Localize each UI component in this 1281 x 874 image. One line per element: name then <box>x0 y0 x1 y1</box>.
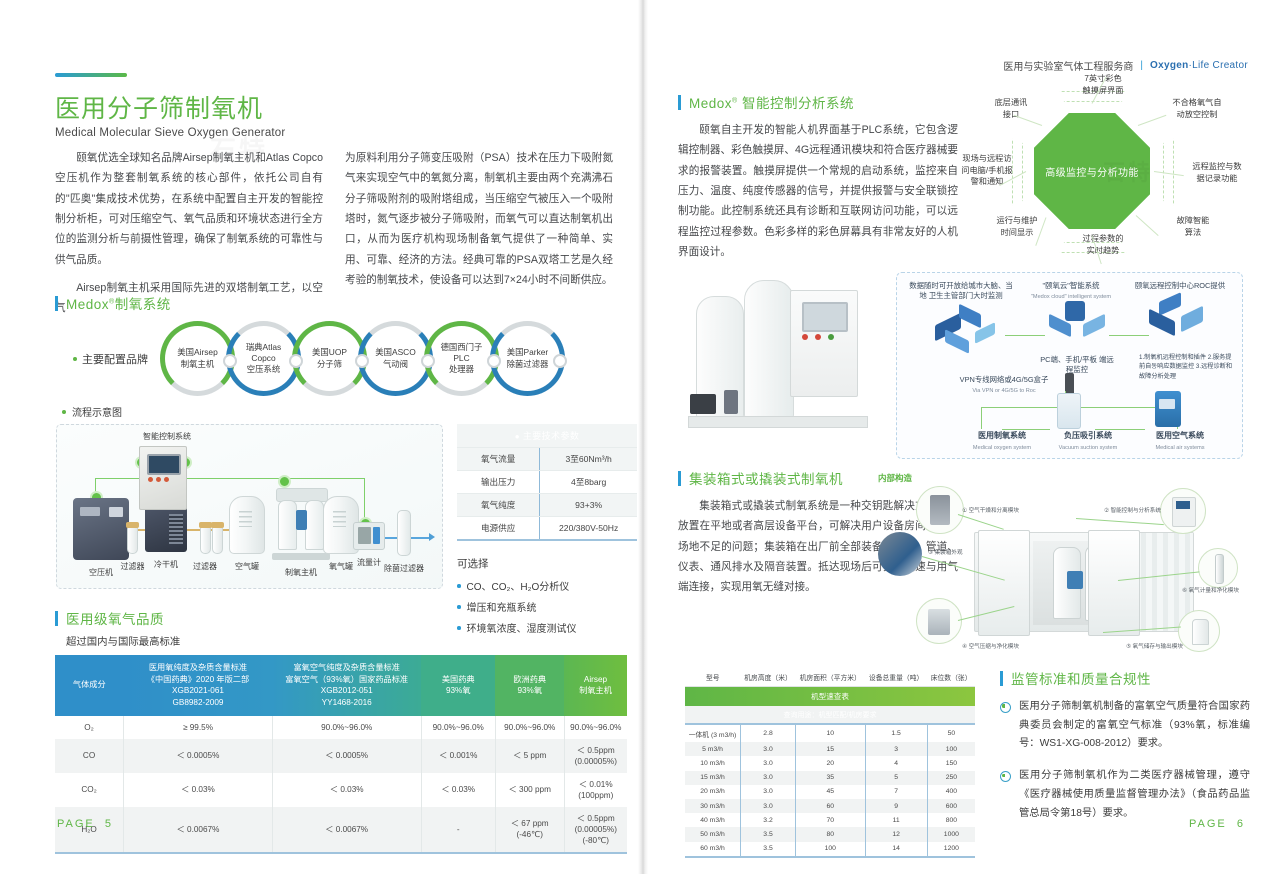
equipment-filter-2b <box>212 526 223 554</box>
table-cell: 3.0 <box>741 771 796 785</box>
model-table: 机型速查表 查询用途：机型匹配/机房要求 型号机房高度（米）机房面积（平方米）设… <box>685 668 975 858</box>
table-cell: ＜ 0.5ppm(0.00005%) <box>564 739 627 773</box>
table-cell: 一体机 (3 m3/h) <box>685 724 741 742</box>
brand-ring-label: 美国ASCO气动阀 <box>363 347 428 369</box>
callout-bubble-4 <box>916 598 962 644</box>
octagon-label-2: 不合格氧气自动放空控制 <box>1154 97 1240 120</box>
bullet-check-icon <box>1000 702 1011 713</box>
brochure-spread: 医用分子筛制氧机 Medical Molecular Sieve Oxygen … <box>0 0 1281 874</box>
left-page: 医用分子筛制氧机 Medical Molecular Sieve Oxygen … <box>0 0 638 874</box>
callout-bubble-1 <box>916 486 964 534</box>
bullet-dot-icon <box>73 357 77 361</box>
model-table-subtitle: 查询用途：机型匹配/机房要求 <box>685 706 975 724</box>
quality-section: 医用级氧气品质 超过国内与国际最高标准 气体成分医用氧纯度及杂质含量标准《中国药… <box>55 608 630 854</box>
medox-label-rest: 制氧系统 <box>115 297 171 312</box>
cloud-right-list: 1.制氧机远程控制和插件 2.服务提前自동响应数据监控 3.远程诊断和故障分析处… <box>1139 353 1235 381</box>
table-row: 15 m3/h3.0355250 <box>685 771 975 785</box>
table-cell: ＜ 0.001% <box>421 739 495 773</box>
vpn-label: VPN专线网络或4G/5G盒子Via VPN or 4G/5G to Roc <box>949 375 1059 396</box>
header-brand: Oxygen·Life Creator <box>1150 60 1248 71</box>
table-cell: 90.0%~96.0% <box>421 716 495 739</box>
model-col-header: 机房面积（平方米） <box>796 668 865 687</box>
container-diagram: 内部构造 ⌒颐氧 <box>878 470 1238 660</box>
table-cell: ＜ 0.01%(100ppm) <box>564 773 627 807</box>
container-callout-4: ④ 空气压缩与净化模块 <box>962 642 1019 650</box>
medox-control-heading: Medox® 智能控制分析系统 <box>678 92 963 112</box>
table-cell: 150 <box>927 756 975 770</box>
table-cell: 400 <box>927 785 975 799</box>
cloud-system-diagram: 数据随时可开放给城市大脑、当地 卫生主管部门大时监测 "颐氧云"智能系统"Med… <box>896 272 1243 459</box>
table-cell: 5 <box>865 771 927 785</box>
table-row: 20 m3/h3.0457400 <box>685 785 975 799</box>
table-cell: 3.0 <box>741 785 796 799</box>
gateway-device-icon <box>1065 373 1074 395</box>
callout-bubble-2 <box>1160 488 1206 534</box>
ring-joint-icon <box>553 354 567 368</box>
oxygen-generator-photo <box>682 258 882 458</box>
table-cell: ＜ 0.03% <box>272 773 421 807</box>
container-title: 集装箱式或撬装式制氧机 <box>689 468 843 488</box>
table-row: CO₂＜ 0.03%＜ 0.03%＜ 0.03%＜ 300 ppm＜ 0.01%… <box>55 773 627 807</box>
container-door-left <box>978 530 1030 636</box>
page-title-block: 医用分子筛制氧机 Medical Molecular Sieve Oxygen … <box>55 80 475 139</box>
right-page: 医用与实验室气体工程服务商 | Oxygen·Life Creator Medo… <box>648 0 1281 874</box>
bullet-dot-icon <box>62 410 66 414</box>
table-cell: 2.8 <box>741 724 796 742</box>
equipment-sterile-filter: 除菌过滤器 <box>397 510 411 556</box>
medox-label: Medox <box>66 297 109 312</box>
ring-joint-icon <box>223 354 237 368</box>
table-cell: 1.5 <box>865 724 927 742</box>
callout-photo-3 <box>878 532 922 576</box>
header-separator: | <box>1140 60 1143 71</box>
table-cell: 3.0 <box>741 742 796 756</box>
table-cell: 3.0 <box>741 756 796 770</box>
page-number-right: PAGE 6 <box>1189 818 1245 830</box>
container-diagram-title: 内部构造 <box>878 472 912 484</box>
header-bar: 医用与实验室气体工程服务商 | Oxygen·Life Creator <box>1003 58 1248 73</box>
octagon-label-8: 底层通讯接口 <box>968 97 1054 120</box>
table-cell: 70 <box>796 813 865 827</box>
container-callout-5: ⑤ 氧气储存与输出模块 <box>1126 642 1183 650</box>
callout-bubble-5 <box>1178 610 1220 652</box>
table-row: CO＜ 0.0005%＜ 0.0005%＜ 0.001%＜ 5 ppm＜ 0.5… <box>55 739 627 773</box>
regulatory-title: 监管标准和质量合规性 <box>1011 668 1151 688</box>
control-line-h <box>95 478 365 479</box>
title-rule <box>55 73 127 77</box>
brand-ring-label: 美国Parker除菌过滤器 <box>495 347 560 369</box>
table-cell: ＜ 0.0005% <box>272 739 421 773</box>
medox-system-heading: Medox®制氧系统 <box>55 293 615 313</box>
table-row: 10 m3/h3.0204150 <box>685 756 975 770</box>
cloud-system-item-2: 负压吸引系统Vacuum suction system <box>1045 431 1131 453</box>
page-number-left: PAGE 5 <box>57 818 113 830</box>
table-cell: 3 <box>865 742 927 756</box>
spec-row: 输出压力4至8barg <box>457 471 637 494</box>
regulatory-text: 医用分子筛制氧机制备的富氧空气质量符合国家药典委员会制定的富氧空气标准（93%氧… <box>1019 698 1250 754</box>
table-cell: 3.0 <box>741 799 796 813</box>
brand-ring-label: 瑞典AtlasCopco空压系统 <box>231 342 296 375</box>
optional-item: CO、CO₂、H₂O分析仪 <box>457 578 637 593</box>
cloud-label-top-left: 数据随时可开放给城市大脑、当地 卫生主管部门大时监测 <box>907 281 1015 301</box>
model-lookup-panel: 机型速查表 查询用途：机型匹配/机房要求 型号机房高度（米）机房面积（平方米）设… <box>685 668 975 858</box>
table-row: H₂O＜ 0.0067%＜ 0.0067%-＜ 67 ppm(-46℃)＜ 0.… <box>55 807 627 853</box>
table-cell: 90.0%~96.0% <box>495 716 564 739</box>
optional-item-label: CO、CO₂、H₂O分析仪 <box>467 578 570 593</box>
octagon-label-6: 运行与维护时间显示 <box>974 215 1060 238</box>
heading-tick <box>678 471 681 486</box>
table-cell: 80 <box>796 827 865 841</box>
process-flow-diagram: 智能控制系统 <box>56 424 443 589</box>
ring-joint-icon <box>289 354 303 368</box>
quality-col-header: Airsep制氧主机 <box>564 655 627 716</box>
equipment-filter-2: 过滤器 <box>200 526 211 554</box>
table-cell: O₂ <box>55 716 124 739</box>
table-cell: 30 m3/h <box>685 799 741 813</box>
spec-row: 氧气纯度93+3% <box>457 494 637 517</box>
model-col-header: 床位数（张） <box>927 668 975 687</box>
flow-arrow-icon <box>429 533 435 541</box>
bullet-check-icon <box>1000 771 1011 782</box>
table-row: O₂≥ 99.5%90.0%~96.0%90.0%~96.0%90.0%~96.… <box>55 716 627 739</box>
container-callout-3: ③ 集装箱外观 <box>928 548 963 556</box>
container-callout-1: ① 空气干燥和分离模块 <box>962 506 1019 514</box>
medox-system-section: Medox®制氧系统 主要配置品牌 美国Airsep制氧主机瑞典AtlasCop… <box>55 293 615 402</box>
spec-value: 93+3% <box>540 494 637 517</box>
spec-value: 4至8barg <box>540 471 637 494</box>
brand-ring-6[interactable]: 美国Parker除菌过滤器 <box>490 321 565 396</box>
ring-joint-icon <box>421 354 435 368</box>
heading-tick <box>55 296 58 311</box>
flow-diagram-label: 流程示意图 <box>62 404 122 419</box>
regulatory-item: 医用分子筛制氧机制备的富氧空气质量符合国家药典委员会制定的富氧空气标准（93%氧… <box>1000 698 1250 754</box>
model-col-header: 型号 <box>685 668 741 687</box>
brand-ring-2[interactable]: 瑞典AtlasCopco空压系统 <box>226 321 301 396</box>
brand-rings: 美国Airsep制氧主机瑞典AtlasCopco空压系统美国UOP分子筛美国AS… <box>160 321 565 396</box>
equipment-air-tank: 空气罐 <box>229 496 265 554</box>
table-cell: 45 <box>796 785 865 799</box>
cloud-system-item-1: 医用制氧系统Medical oxygen system <box>959 431 1045 453</box>
cloud-connector <box>1005 335 1045 336</box>
octagon-label-1: 7英寸彩色触摸屏界面 <box>1060 73 1146 96</box>
medox-control-label: Medox <box>689 96 732 111</box>
table-cell: 90.0%~96.0% <box>564 716 627 739</box>
spec-table-title: ● 主要技术参数 <box>457 424 637 448</box>
callout-bubble-6 <box>1198 548 1238 588</box>
table-row: 60 m3/h3.5100141200 <box>685 842 975 857</box>
table-cell: 250 <box>927 771 975 785</box>
spec-table: ● 主要技术参数 氧气流量3至60Nm³/h输出压力4至8barg氧气纯度93+… <box>457 424 637 541</box>
brands-label: 主要配置品牌 <box>73 351 148 367</box>
regulatory-text: 医用分子筛制氧机作为二类医疗器械管理，遵守《医疗器械使用质量监督管理办法》（食品… <box>1019 767 1250 823</box>
table-cell: 50 m3/h <box>685 827 741 841</box>
spec-row: 电源供应220/380V-50Hz <box>457 517 637 541</box>
table-cell: ＜ 0.0067% <box>124 807 273 853</box>
octagon-label-3: 远程监控与数据记录功能 <box>1174 161 1260 184</box>
octagon-center-label: 高级监控与分析功能 <box>1045 164 1139 179</box>
vacuum-unit-icon <box>1057 393 1081 429</box>
table-cell: ＜ 300 ppm <box>495 773 564 807</box>
table-row: 30 m3/h3.0609600 <box>685 799 975 813</box>
brand-ring-label: 德国西门子PLC处理器 <box>429 342 494 375</box>
table-cell: 5 m3/h <box>685 742 741 756</box>
container-callout-2: ② 智能控制与分析系统 <box>1104 506 1161 514</box>
regulatory-item: 医用分子筛制氧机作为二类医疗器械管理，遵守《医疗器械使用质量监督管理办法》（食品… <box>1000 767 1250 823</box>
medox-control-paragraph: 颐氧自主开发的智能人机界面基于PLC系统，它包含逻辑控制器、彩色触摸屏、4G远程… <box>678 120 958 262</box>
table-cell: CO <box>55 739 124 773</box>
gas-quality-table: 气体成分医用氧纯度及杂质含量标准《中国药典》2020 年版二部XGB2021-0… <box>55 655 627 854</box>
header-tagline: 医用与实验室气体工程服务商 <box>1003 58 1133 73</box>
table-cell: 7 <box>865 785 927 799</box>
octagon-label-7: 现场与远程访问电脑/手机报警和通知 <box>944 153 1030 188</box>
equipment-dryer: 冷干机 <box>145 506 187 552</box>
table-cell: - <box>421 807 495 853</box>
quality-col-header: 气体成分 <box>55 655 124 716</box>
table-row: 50 m3/h3.580121000 <box>685 827 975 841</box>
heading-tick <box>678 95 681 110</box>
quality-col-header: 富氧空气纯度及杂质含量标准富氧空气（93%氧）国家药品标准XGB2012-051… <box>272 655 421 716</box>
table-cell: 11 <box>865 813 927 827</box>
table-row: 一体机 (3 m3/h)2.8101.550 <box>685 724 975 742</box>
model-table-title: 机型速查表 <box>685 687 975 707</box>
ring-joint-icon <box>487 354 501 368</box>
table-cell: 40 m3/h <box>685 813 741 827</box>
unit-display-icon <box>1159 399 1175 409</box>
oxygen-pipe <box>409 537 429 539</box>
table-cell: 60 m3/h <box>685 842 741 857</box>
medical-air-unit-icon <box>1155 391 1181 427</box>
brand-ring-row: 主要配置品牌 美国Airsep制氧主机瑞典AtlasCopco空压系统美国UOP… <box>73 321 615 396</box>
spec-key: 氧气流量 <box>457 448 540 471</box>
brand-ring-label: 美国Airsep制氧主机 <box>165 347 230 369</box>
callout-line <box>958 514 1004 530</box>
brand-ring-1[interactable]: 美国Airsep制氧主机 <box>160 321 235 396</box>
bullet-dot-icon <box>457 584 461 588</box>
equipment-filter-1: 过滤器 <box>127 526 138 554</box>
table-cell: ≥ 99.5% <box>124 716 273 739</box>
spec-value: 220/380V-50Hz <box>540 517 637 541</box>
equipment-flow-meter: 流量计 <box>353 522 385 550</box>
page-gutter <box>638 0 648 874</box>
cloud-connector <box>1109 335 1149 336</box>
table-cell: 10 m3/h <box>685 756 741 770</box>
model-col-header: 设备总重量（吨） <box>865 668 927 687</box>
spec-key: 输出压力 <box>457 471 540 494</box>
table-cell: 1000 <box>927 827 975 841</box>
container-door-right <box>1088 530 1140 636</box>
table-cell: 60 <box>796 799 865 813</box>
container-callout-6: ⑥ 氧气计量和净化模块 <box>1182 586 1239 594</box>
model-col-header: 机房高度（米） <box>741 668 796 687</box>
table-cell: ＜ 0.03% <box>124 773 273 807</box>
table-cell: ＜ 0.03% <box>421 773 495 807</box>
quality-col-header: 欧洲药典93%氧 <box>495 655 564 716</box>
callout-line <box>1076 518 1164 525</box>
equipment-air-compressor: 空压机 <box>73 498 129 560</box>
cloud-label-top-center: "颐氧云"智能系统"Medox cloud" intelligent syste… <box>1021 281 1121 302</box>
control-system-title: 智能控制系统 <box>143 431 191 442</box>
table-cell: 3.5 <box>741 842 796 857</box>
table-cell: ＜ 5 ppm <box>495 739 564 773</box>
octagon-label-4: 故障智能算法 <box>1150 215 1236 238</box>
regulatory-heading: 监管标准和质量合规性 <box>1000 668 1250 688</box>
heading-tick <box>55 611 58 626</box>
equipment-control-panel <box>139 446 187 510</box>
table-cell: 100 <box>796 842 865 857</box>
table-cell: 600 <box>927 799 975 813</box>
table-cell: 9 <box>865 799 927 813</box>
table-cell: 14 <box>865 842 927 857</box>
cloud-system-item-3: 医用空气系统Medical air systems <box>1137 431 1223 453</box>
control-line-v1 <box>95 478 96 492</box>
cloud-branch <box>981 407 982 429</box>
spec-key: 氧气纯度 <box>457 494 540 517</box>
brand-ring-label: 美国UOP分子筛 <box>297 347 362 369</box>
quality-title: 医用级氧气品质 <box>66 608 164 628</box>
octagon-core: 高级监控与分析功能 <box>1034 113 1150 229</box>
table-row: 40 m3/h3.27011800 <box>685 813 975 827</box>
table-cell: ＜ 0.5ppm(0.00005%)(-80℃) <box>564 807 627 853</box>
table-cell: CO₂ <box>55 773 124 807</box>
feature-octagon-diagram: 高级监控与分析功能 7英寸彩色触摸屏界面不合格氧气自动放空控制远程监控与数据记录… <box>968 75 1238 265</box>
quality-col-header: 美国药典93%氧 <box>421 655 495 716</box>
page-title-en: Medical Molecular Sieve Oxygen Generator <box>55 127 475 139</box>
table-cell: 90.0%~96.0% <box>272 716 421 739</box>
brand-ring-3[interactable]: 美国UOP分子筛 <box>292 321 367 396</box>
intro-paragraph-3: 为原料利用分子筛变压吸附（PSA）技术在压力下吸附氮气来实现空气中的氧氮分离，制… <box>345 148 613 290</box>
spec-value: 3至60Nm³/h <box>540 448 637 471</box>
table-cell: 10 <box>796 724 865 742</box>
quality-heading: 医用级氧气品质 <box>55 608 630 628</box>
ring-joint-icon <box>355 354 369 368</box>
table-cell: 20 <box>796 756 865 770</box>
table-cell: 4 <box>865 756 927 770</box>
table-row: 5 m3/h3.0153100 <box>685 742 975 756</box>
optional-title: 可选择 <box>457 556 637 571</box>
heading-tick <box>1000 671 1003 686</box>
table-cell: 12 <box>865 827 927 841</box>
table-cell: 3.5 <box>741 827 796 841</box>
table-cell: 1200 <box>927 842 975 857</box>
table-cell: ＜ 0.0005% <box>124 739 273 773</box>
quality-col-header: 医用氧纯度及杂质含量标准《中国药典》2020 年版二部XGB2021-061GB… <box>124 655 273 716</box>
cloud-label-top-right: 颐氧远程控制中心ROC提供 <box>1125 281 1235 291</box>
control-line-v4 <box>364 478 365 522</box>
brand-ring-5[interactable]: 德国西门子PLC处理器 <box>424 321 499 396</box>
table-cell: 35 <box>796 771 865 785</box>
table-cell: 20 m3/h <box>685 785 741 799</box>
spec-row: 氧气流量3至60Nm³/h <box>457 448 637 471</box>
table-cell: 15 m3/h <box>685 771 741 785</box>
medox-control-section: Medox® 智能控制分析系统 颐氧自主开发的智能人机界面基于PLC系统，它包含… <box>678 92 963 270</box>
regulatory-section: 监管标准和质量合规性 医用分子筛制氧机制备的富氧空气质量符合国家药典委员会制定的… <box>1000 668 1250 836</box>
quality-subtitle: 超过国内与国际最高标准 <box>66 633 630 648</box>
table-cell: 15 <box>796 742 865 756</box>
octagon-label-5: 过程参数的实时趋势 <box>1060 233 1146 256</box>
table-cell: ＜ 0.0067% <box>272 807 421 853</box>
cloud-center-caption: PC端、手机/平板 端远程监控 <box>1037 355 1117 375</box>
spec-key: 电源供应 <box>457 517 540 541</box>
table-cell: 50 <box>927 724 975 742</box>
brand-ring-4[interactable]: 美国ASCO气动阀 <box>358 321 433 396</box>
page-title-cn: 医用分子筛制氧机 <box>55 89 475 125</box>
table-cell: 800 <box>927 813 975 827</box>
table-cell: 3.2 <box>741 813 796 827</box>
table-cell: ＜ 67 ppm(-46℃) <box>495 807 564 853</box>
table-cell: 100 <box>927 742 975 756</box>
intro-paragraph-1: 颐氧优选全球知名品牌Airsep制氧主机和Atlas Copco空压机作为整套制… <box>55 148 323 270</box>
